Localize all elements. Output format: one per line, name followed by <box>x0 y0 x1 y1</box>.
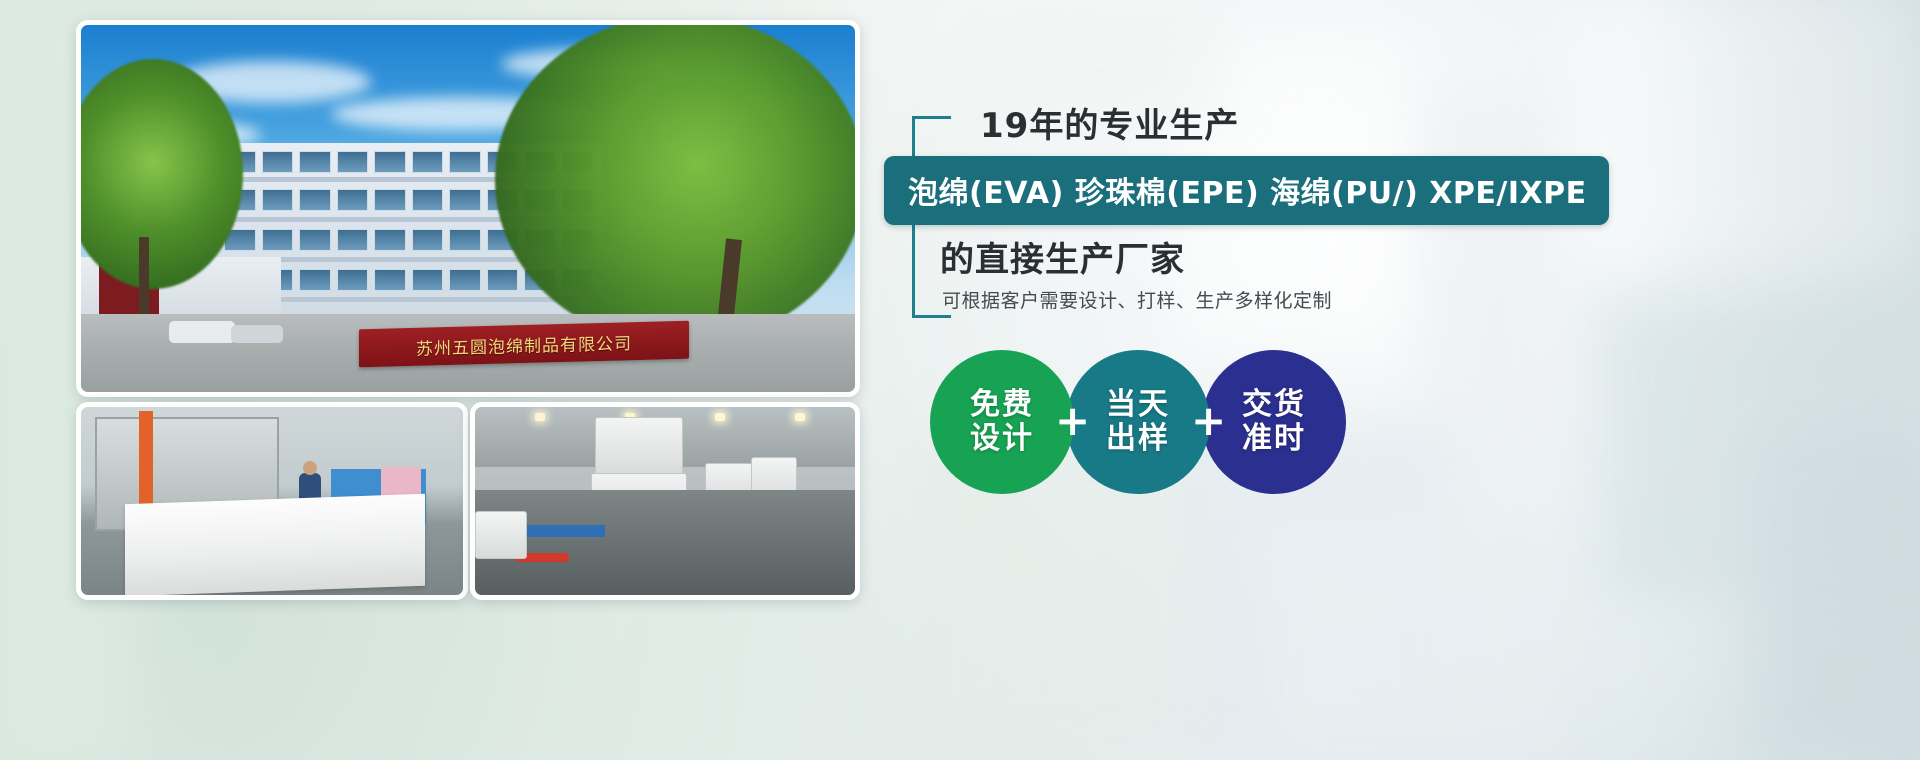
feature-line-2: 设计 <box>970 422 1034 456</box>
feature-line-1: 交货 <box>1242 388 1306 422</box>
plus-separator-1: + <box>1055 400 1090 442</box>
headline-top: 19年的专业生产 <box>980 98 1239 147</box>
feature-line-1: 当天 <box>1106 388 1170 422</box>
company-sign-text: 苏州五圆泡绵制品有限公司 <box>416 329 632 360</box>
feature-circles: 免费 设计 + 当天 出样 + 交货 准时 <box>930 350 1350 500</box>
feature-line-2: 出样 <box>1106 422 1170 456</box>
feature-circle-free-design: 免费 设计 <box>930 350 1074 494</box>
promotional-banner: 苏州五圆泡绵制品有限公司 <box>0 0 1920 760</box>
foam-cutting-workshop-photo <box>76 402 468 600</box>
factory-exterior-photo: 苏州五圆泡绵制品有限公司 <box>76 20 860 397</box>
subtitle-text: 可根据客户需要设计、打样、生产多样化定制 <box>942 286 1332 313</box>
photo-collage: 苏州五圆泡绵制品有限公司 <box>76 20 860 600</box>
warehouse-aisle-photo <box>470 402 860 600</box>
feature-line-2: 准时 <box>1242 422 1306 456</box>
plus-separator-2: + <box>1191 400 1226 442</box>
feature-line-1: 免费 <box>970 388 1034 422</box>
product-list-pill: 泡绵(EVA) 珍珠棉(EPE) 海绵(PU/) XPE/IXPE <box>884 156 1609 225</box>
headline-bottom: 的直接生产厂家 <box>940 232 1185 281</box>
